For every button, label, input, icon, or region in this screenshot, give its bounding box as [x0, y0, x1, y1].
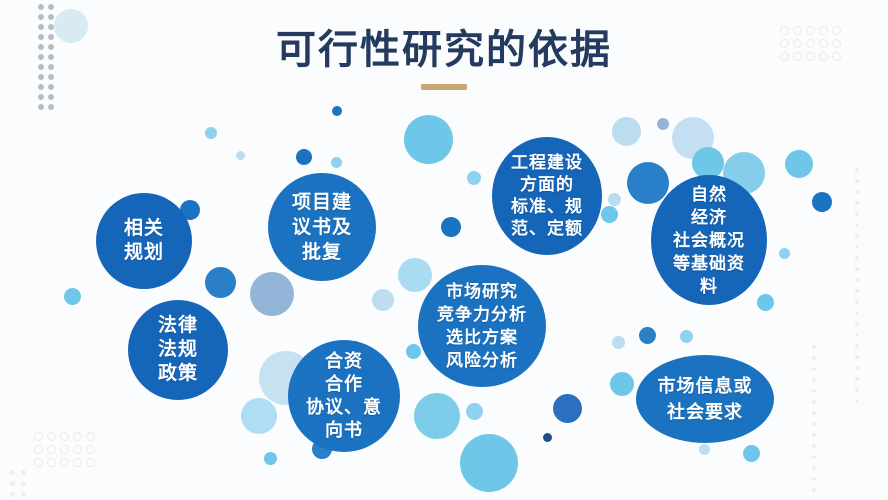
deco-bubble [757, 294, 774, 311]
grid-dot [86, 458, 95, 467]
deco-bubble [414, 393, 460, 439]
bubble-related-planning[interactable]: 相关 规划 [96, 193, 192, 289]
grid-dot [86, 432, 95, 441]
page-title: 可行性研究的依据 [0, 26, 888, 74]
bubble-market-info-social-demand[interactable]: 市场信息或 社会要求 [636, 355, 774, 443]
deco-bubble [64, 288, 81, 305]
bubble-engineering-standards[interactable]: 工程建设 方面的 标准、规 范、定额 [492, 137, 602, 255]
deco-bubble [553, 394, 582, 423]
deco-bubble [608, 193, 621, 206]
grid-dot [855, 333, 859, 337]
bubble-market-research-analysis[interactable]: 市场研究 竞争力分析 选比方案 风险分析 [418, 265, 546, 387]
title-block: 可行性研究的依据 [0, 26, 888, 90]
deco-bubble [460, 434, 518, 492]
title-underline-rule [421, 84, 467, 90]
grid-dot [855, 311, 859, 315]
grid-dot [812, 466, 816, 470]
bubble-related-planning-label: 相关 规划 [124, 217, 164, 265]
grid-dot [812, 422, 816, 426]
grid-dot [34, 445, 43, 454]
bubble-joint-venture-agreement[interactable]: 合资 合作 协议、意 向书 [288, 340, 400, 452]
grid-dot [855, 179, 859, 183]
deco-bubble [610, 372, 634, 396]
deco-bubble [264, 452, 277, 465]
grid-dot [855, 322, 859, 326]
grid-dot [855, 300, 859, 304]
grid-dot [73, 445, 82, 454]
deco-bubble [466, 403, 483, 420]
grid-dot [10, 492, 15, 497]
grid-dot [812, 400, 816, 404]
grid-dot [47, 432, 56, 441]
deco-bubble [543, 433, 552, 442]
deco-bubble [672, 117, 714, 159]
deco-bubble [441, 217, 461, 237]
bubble-laws-regulations-policies[interactable]: 法律 法规 政策 [128, 300, 228, 400]
grid-dot [855, 388, 859, 392]
deco-bubble [236, 151, 245, 160]
grid-dot [10, 481, 15, 486]
grid-dot [855, 355, 859, 359]
grid-dot [34, 432, 43, 441]
deco-bubble [612, 117, 641, 146]
deco-bubble [331, 157, 342, 168]
grid-dot [812, 345, 816, 349]
grid-dot [812, 411, 816, 415]
grid-dot [812, 378, 816, 382]
grid-dot [855, 278, 859, 282]
grid-dot [855, 267, 859, 271]
grid-dot [21, 470, 26, 475]
grid-dot [812, 444, 816, 448]
deco-bubble [680, 330, 693, 343]
grid-dot [48, 94, 54, 100]
grid-dot [855, 377, 859, 381]
deco-bubble [812, 192, 832, 212]
deco-bubble [639, 327, 656, 344]
grid-dot [21, 481, 26, 486]
grid-dot [812, 488, 816, 492]
bubble-natural-economic-social[interactable]: 自然 经济 社会概况 等基础资 料 [651, 175, 767, 305]
grid-dot [855, 212, 859, 216]
grid-dot [812, 356, 816, 360]
grid-dot [73, 432, 82, 441]
bubble-market-research-analysis-label: 市场研究 竞争力分析 选比方案 风险分析 [437, 280, 527, 372]
grid-dot [60, 458, 69, 467]
grid-dot [855, 289, 859, 293]
deco-bubble [743, 445, 760, 462]
grid-dot [812, 455, 816, 459]
grid-dot [812, 477, 816, 481]
deco-bubble [699, 444, 710, 455]
deco-bubble [404, 115, 453, 164]
grid-dot [48, 14, 54, 20]
deco-bubble [205, 267, 236, 298]
deco-bubble [657, 118, 669, 130]
deco-bubble [398, 258, 432, 292]
bubble-laws-regulations-policies-label: 法律 法规 政策 [158, 314, 198, 386]
grid-dot [812, 367, 816, 371]
grid-dot [855, 344, 859, 348]
deco-bubble [241, 398, 277, 434]
dot-grid-right-edge-b [812, 345, 816, 492]
deco-bubble [467, 171, 481, 185]
deco-bubble [627, 162, 669, 204]
grid-dot [60, 432, 69, 441]
bubble-market-info-social-demand-label: 市场信息或 社会要求 [658, 373, 753, 425]
slide-canvas: 可行性研究的依据 相关 规划法律 法规 政策项目建 议书及 批复合资 合作 协议… [0, 0, 888, 500]
grid-dot [48, 104, 54, 110]
grid-dot [855, 168, 859, 172]
grid-dot [38, 14, 44, 20]
deco-bubble [785, 150, 813, 178]
bubble-natural-economic-social-label: 自然 经济 社会概况 等基础资 料 [673, 183, 745, 298]
dot-grid-bottom-left [34, 432, 95, 467]
grid-dot [47, 445, 56, 454]
grid-dot [21, 492, 26, 497]
grid-dot [38, 104, 44, 110]
grid-dot [855, 201, 859, 205]
grid-dot [855, 234, 859, 238]
grid-dot [855, 223, 859, 227]
grid-dot [812, 433, 816, 437]
grid-dot [47, 458, 56, 467]
grid-dot [73, 458, 82, 467]
bubble-project-proposal-approval-label: 项目建 议书及 批复 [292, 190, 352, 265]
grid-dot [60, 445, 69, 454]
grid-dot [86, 445, 95, 454]
grid-dot [10, 470, 15, 475]
grid-dot [48, 4, 54, 10]
deco-bubble [372, 289, 394, 311]
deco-bubble [296, 149, 312, 165]
grid-dot [38, 94, 44, 100]
bubble-engineering-standards-label: 工程建设 方面的 标准、规 范、定额 [511, 152, 583, 240]
grid-dot [855, 256, 859, 260]
grid-dot [855, 190, 859, 194]
deco-bubble [779, 248, 790, 259]
grid-dot [38, 4, 44, 10]
dot-grid-right-edge-a [855, 168, 859, 403]
deco-bubble [612, 336, 625, 349]
bubble-joint-venture-agreement-label: 合资 合作 协议、意 向书 [306, 350, 382, 442]
deco-bubble [332, 106, 342, 116]
bubble-project-proposal-approval[interactable]: 项目建 议书及 批复 [268, 173, 376, 281]
grid-dot [855, 366, 859, 370]
grid-dot [855, 399, 859, 403]
deco-bubble [205, 127, 217, 139]
dot-grid-left-edge [10, 470, 26, 497]
deco-bubble [406, 344, 421, 359]
grid-dot [855, 245, 859, 249]
deco-bubble [250, 272, 294, 316]
grid-dot [34, 458, 43, 467]
deco-bubble [601, 206, 618, 223]
grid-dot [812, 389, 816, 393]
